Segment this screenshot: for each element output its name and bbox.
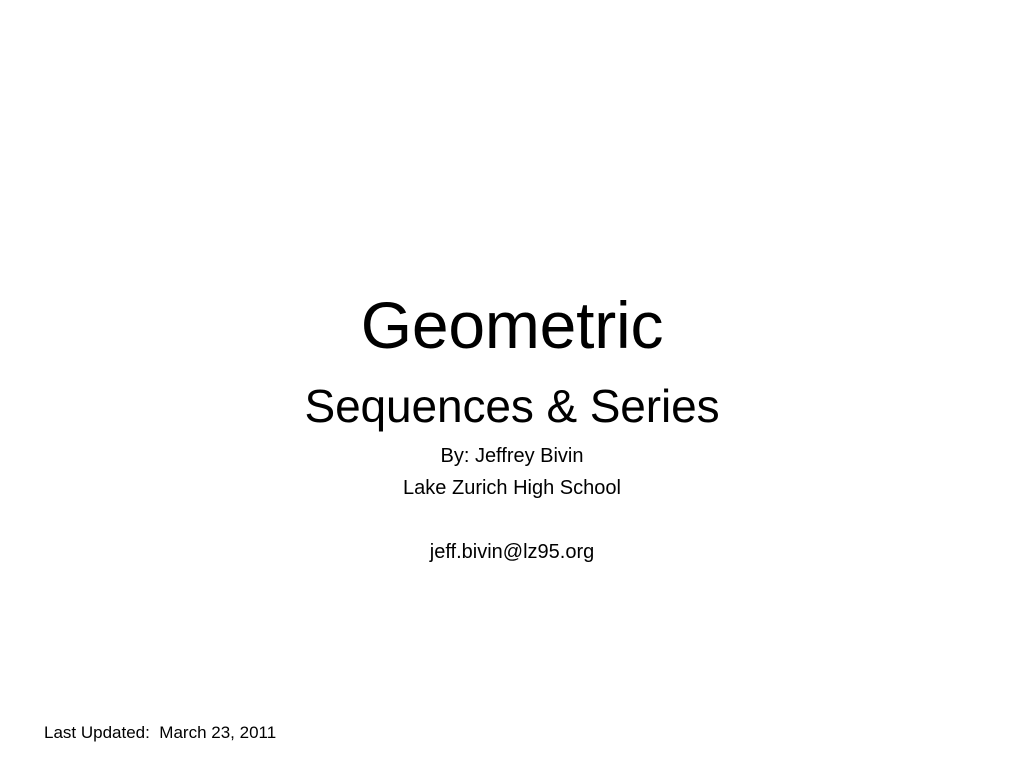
title-text-block: Geometric Sequences & Series By: Jeffrey… <box>0 286 1024 568</box>
blank-spacer-line <box>0 504 1024 536</box>
author-line: By: Jeffrey Bivin <box>0 440 1024 472</box>
last-updated-footer: Last Updated: March 23, 2011 <box>44 722 276 744</box>
email-line: jeff.bivin@lz95.org <box>0 536 1024 568</box>
byline-block: By: Jeffrey Bivin Lake Zurich High Schoo… <box>0 434 1024 568</box>
page-title: Geometric <box>0 286 1024 364</box>
page-subtitle: Sequences & Series <box>0 364 1024 434</box>
title-slide: Geometric Sequences & Series By: Jeffrey… <box>0 0 1024 768</box>
organization-line: Lake Zurich High School <box>0 472 1024 504</box>
